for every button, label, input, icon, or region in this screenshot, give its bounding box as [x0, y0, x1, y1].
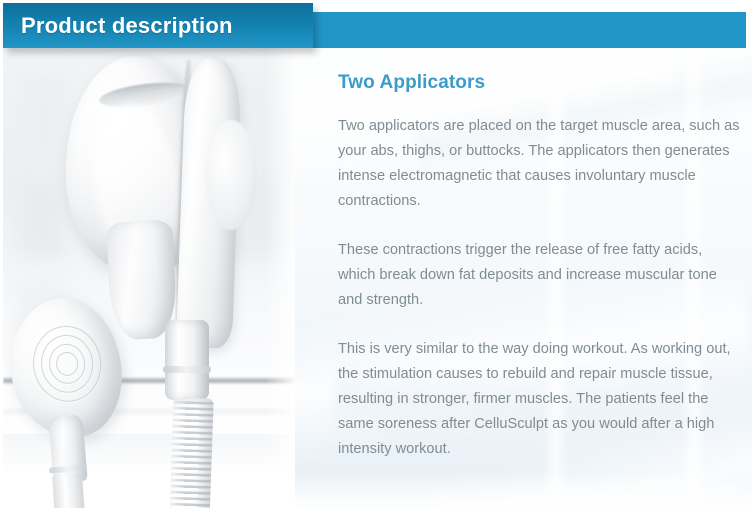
photo-bokeh-1	[17, 70, 69, 166]
photo-bokeh-2	[19, 188, 65, 258]
flexible-ribbed-hose	[168, 397, 213, 508]
applicator-connector	[165, 320, 209, 400]
photo-right-fade	[265, 48, 295, 508]
header-tab: Product description	[3, 3, 313, 48]
description-paragraph-1: Two applicators are placed on the target…	[338, 114, 740, 214]
round-applicator-handpiece	[11, 298, 131, 478]
description-text-column: Two Applicators Two applicators are plac…	[338, 72, 740, 462]
large-applicator-arm-bulge	[205, 120, 257, 230]
product-photo	[3, 48, 295, 508]
description-paragraph-3: This is very similar to the way doing wo…	[338, 337, 740, 462]
section-heading: Two Applicators	[338, 72, 740, 94]
large-applicator-handpiece	[65, 56, 225, 296]
applicator-connector-ring	[163, 366, 211, 373]
description-paragraph-2: These contractions trigger the release o…	[338, 238, 740, 313]
product-description-slide: Product description Two Applicators Two …	[0, 0, 752, 508]
page-title: Product description	[21, 13, 233, 39]
